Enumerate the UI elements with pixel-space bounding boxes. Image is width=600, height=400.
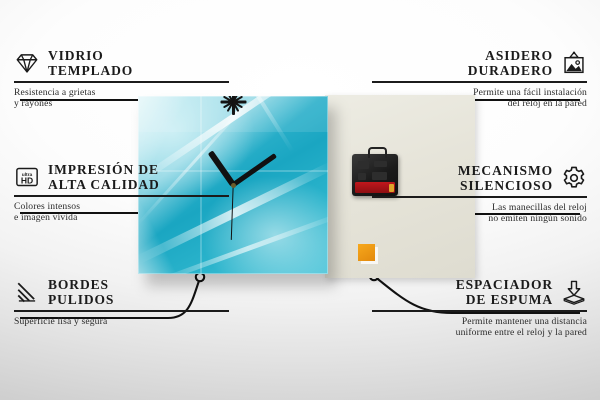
feature-title-line2: DURADERO	[468, 63, 553, 78]
feature-subtitle-line1: Superficie lisa y segura	[14, 316, 229, 328]
feature-subtitle-line1: Las manecillas del reloj	[372, 202, 587, 214]
foam-spacer-arrow-icon	[561, 279, 587, 305]
feature-title-line2: DE ESPUMA	[456, 292, 553, 307]
feature-subtitle-line2: y rayones	[14, 98, 229, 110]
feature-subtitle-line2: del reloj en la pared	[372, 98, 587, 110]
feature-impresion-alta-calidad: ultra HD IMPRESIÓN DE ALTA CALIDAD Color…	[14, 162, 229, 224]
feature-title-line2: ALTA CALIDAD	[48, 177, 160, 192]
feature-title-line2: PULIDOS	[48, 292, 114, 307]
ultra-hd-badge-icon: ultra HD	[14, 164, 40, 190]
feature-subtitle-line1: Resistencia a grietas	[14, 87, 229, 99]
infographic-canvas: VIDRIO TEMPLADO Resistencia a grietas y …	[0, 0, 600, 400]
feature-subtitle-line1: Permite mantener una distancia	[372, 316, 587, 328]
gear-icon	[561, 165, 587, 191]
feature-asidero-duradero: ASIDERO DURADERO Permite una fácil insta…	[372, 48, 587, 110]
svg-text:HD: HD	[21, 176, 33, 186]
feature-title-line1: ASIDERO	[468, 48, 553, 63]
feature-subtitle-line1: Colores intensos	[14, 201, 229, 213]
feature-subtitle-line2: no emiten ningún sonido	[372, 213, 587, 225]
clock-center-pin	[231, 183, 236, 188]
feature-title-line1: BORDES	[48, 277, 114, 292]
wall-frame-hanger-icon	[561, 50, 587, 76]
feature-mecanismo-silencioso: MECANISMO SILENCIOSO Las manecillas del …	[372, 163, 587, 225]
feature-vidrio-templado: VIDRIO TEMPLADO Resistencia a grietas y …	[14, 48, 229, 110]
feature-rule	[14, 195, 229, 197]
feature-subtitle-line1: Permite una fácil instalación	[372, 87, 587, 99]
feature-title-line1: VIDRIO	[48, 48, 133, 63]
diamond-icon	[14, 50, 40, 76]
feature-title-line1: ESPACIADOR	[456, 277, 553, 292]
feature-rule	[14, 81, 229, 83]
feature-subtitle-line2: uniforme entre el reloj y la pared	[372, 327, 587, 339]
feature-rule	[372, 196, 587, 198]
foam-spacer-part	[358, 244, 375, 261]
feature-espaciador-de-espuma: ESPACIADOR DE ESPUMA Permite mantener un…	[372, 277, 587, 339]
feature-rule	[372, 310, 587, 312]
feature-title-line1: IMPRESIÓN DE	[48, 162, 160, 177]
feature-rule	[14, 310, 229, 312]
mechanism-hook-icon	[368, 147, 387, 158]
feature-subtitle-line2: e imagen vívida	[14, 212, 229, 224]
feature-title-line2: SILENCIOSO	[458, 178, 553, 193]
feature-rule	[372, 81, 587, 83]
feature-title-line2: TEMPLADO	[48, 63, 133, 78]
feature-title-line1: MECANISMO	[458, 163, 553, 178]
feature-bordes-pulidos: BORDES PULIDOS Superficie lisa y segura	[14, 277, 229, 327]
polished-edges-icon	[14, 279, 40, 305]
